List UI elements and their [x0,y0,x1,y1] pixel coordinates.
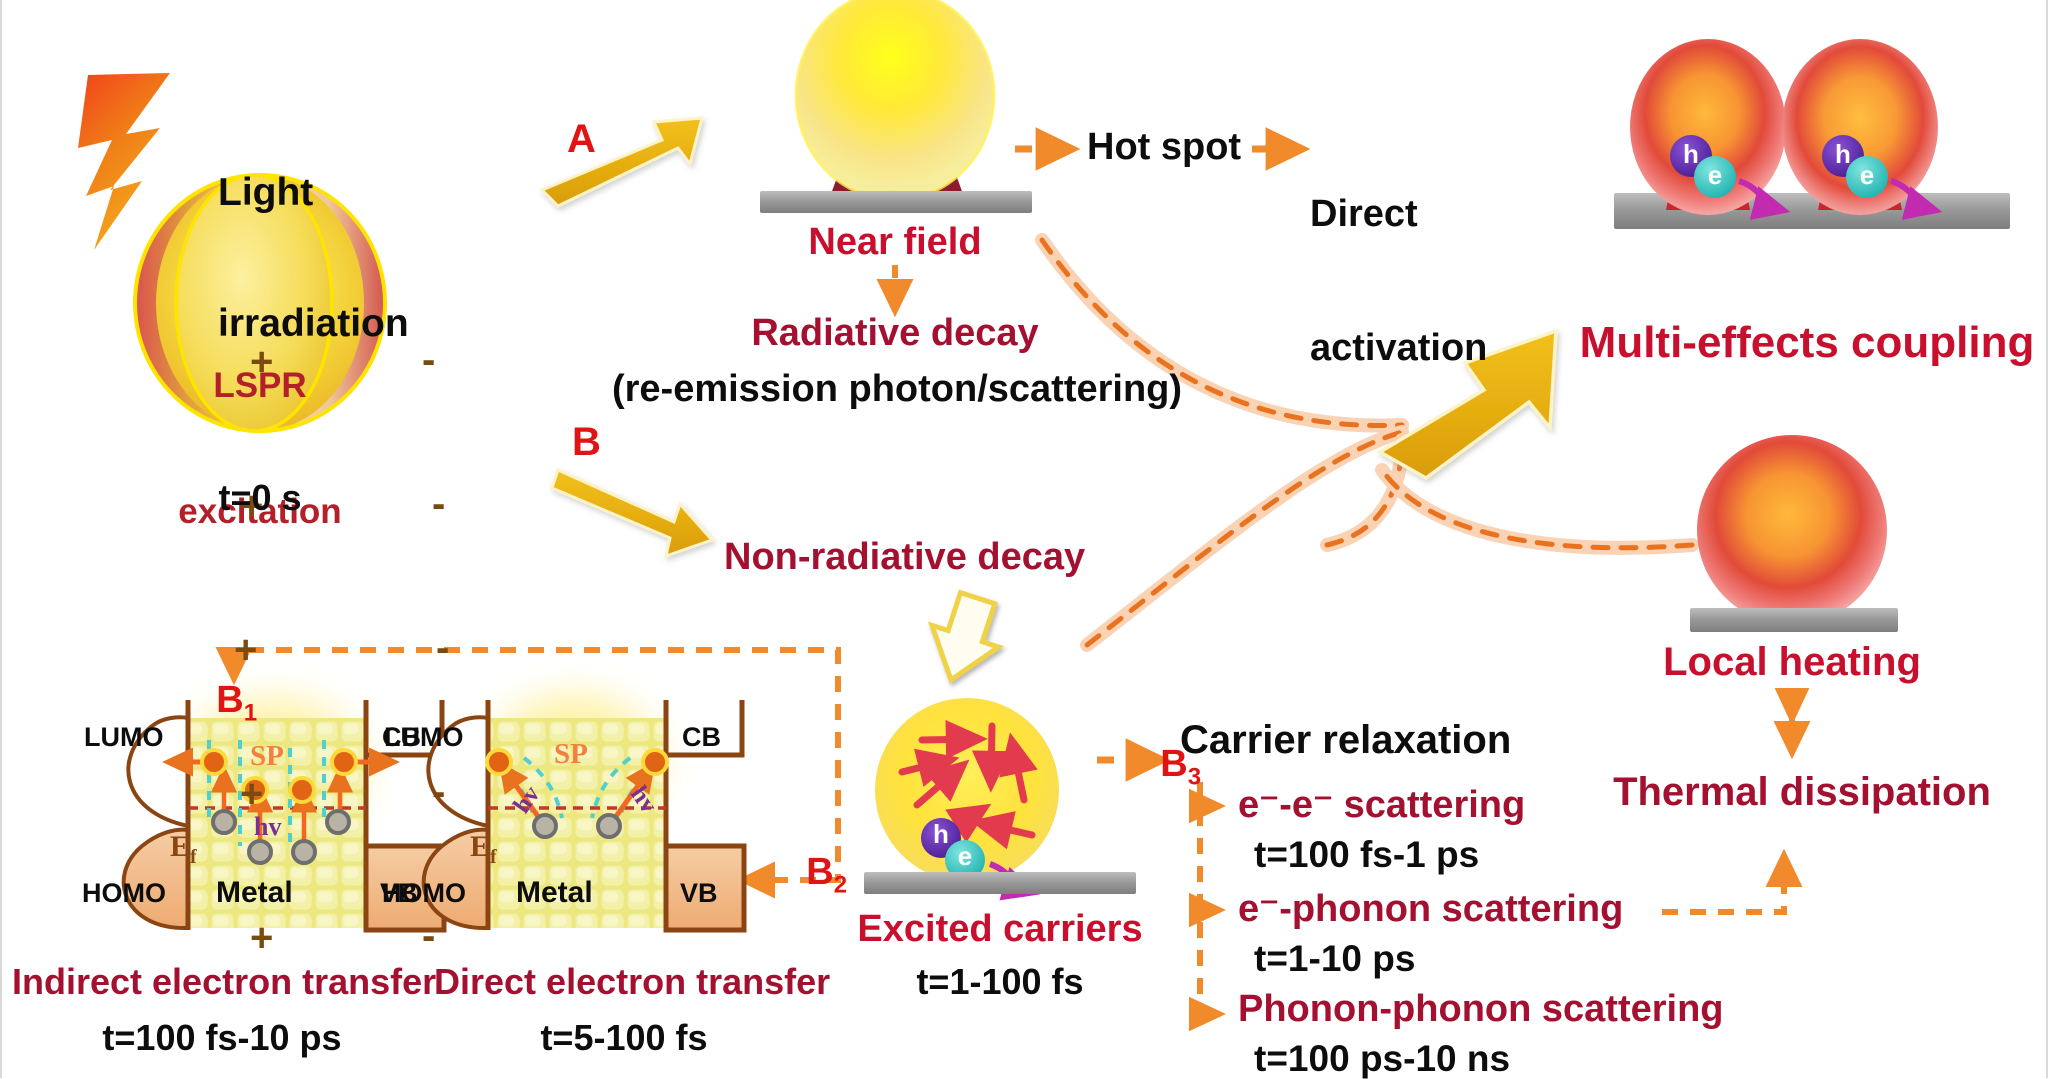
excited-carriers-time: t=1-100 fs [830,962,1170,1002]
bd2-time: t=5-100 fs [434,1018,814,1058]
lspr-time-label: t=0 s [160,478,360,518]
figure-canvas: Light irradiation LSPR excitation + + + … [2,0,2046,1078]
bd1-fermi-subscript: f [190,846,197,868]
bd2-fermi-label: Ef [440,796,497,902]
bd2-lumo-label: LUMO [384,722,463,752]
relaxation-item-0-name: e⁻-e⁻ scattering [1238,784,1525,827]
near-field-label: Near field [745,221,1045,264]
substrate-bar [864,872,1136,894]
bd1-fermi-label: Ef [140,796,197,902]
relaxation-item-1-name: e⁻-phonon scattering [1238,888,1623,931]
relaxation-item-2-name: Phonon-phonon scattering [1238,988,1724,1031]
branch-b1-label: B1 [174,636,257,770]
bd1-lumo-label: LUMO [84,722,163,752]
bd2-metal-label: Metal [516,876,593,910]
non-radiative-hollow-arrow [918,587,1011,690]
non-radiative-decay-label: Non-radiative decay [724,536,1085,579]
bd2-fermi-letter: E [470,830,490,863]
excited-carriers-nanoparticle-icon [864,698,1136,894]
multi-electron-label-1: e [1701,161,1729,190]
branch-b-arrow [552,470,712,556]
branch-a-label: A [567,117,596,162]
branch-b3-subscript: 3 [1188,763,1201,790]
minus-sign: - [422,912,466,960]
branch-b-label: B [572,420,601,465]
thermal-feedback-arrow [1662,856,1784,912]
branch-b2-letter: B [806,851,833,893]
relaxation-item-1-time: t=1-10 ps [1254,938,1415,979]
local-heating-nanoparticle-icon [1690,435,1898,632]
bd1-sp-label: SP [250,740,284,772]
lightning-bolt-icon [78,73,170,250]
excited-electron-label: e [950,842,980,871]
bd2-cb-label: CB [682,722,721,752]
minus-sign: - [436,624,466,672]
minus-sign: - [432,480,466,528]
plus-sign: + [250,338,282,386]
direct-activation-label: Direct activation [1310,102,1487,461]
bd1-hv-label: hv [254,812,281,841]
multi-effects-caption: Multi-effects coupling [1572,318,2042,367]
radiative-decay-sub: (re-emission photon/scattering) [547,368,1247,411]
branch-a-arrow [542,118,702,206]
bd2-caption: Direct electron transfer [434,962,814,1002]
excited-carriers-caption: Excited carriers [830,908,1170,951]
thermal-dissipation-caption: Thermal dissipation [1592,770,2012,815]
carrier-relaxation-title: Carrier relaxation [1180,718,1511,763]
light-label-line1: Light [218,171,409,215]
bd1-time: t=100 fs-10 ps [12,1018,432,1058]
near-field-nanoparticle-icon [760,0,1032,213]
bd1-caption: Indirect electron transfer [12,962,432,1002]
carrier-relaxation-tree [1200,782,1220,1022]
direct-activation-line2: activation [1310,326,1487,371]
bd2-fermi-subscript: f [490,846,497,868]
relaxation-item-2-time: t=100 ps-10 ns [1254,1038,1510,1079]
radiative-decay-label: Radiative decay [695,312,1095,355]
multi-effects-nanoparticles-icon [1614,39,2010,229]
local-heating-caption: Local heating [1622,640,1962,685]
bd1-fermi-letter: E [170,830,190,863]
branch-b1-subscript: 1 [244,699,257,726]
plus-sign: + [250,914,282,962]
hot-spot-label: Hot spot [1087,126,1241,169]
branch-b2-subscript: 2 [834,871,847,898]
substrate-bar [1690,608,1898,632]
minus-sign: - [422,336,466,384]
direct-activation-line1: Direct [1310,192,1487,237]
bd2-sp-label: SP [554,738,588,770]
branch-b1-letter: B [216,679,243,721]
multi-electron-label-2: e [1853,161,1881,190]
substrate-bar [760,191,1032,213]
plus-sign: + [240,770,282,818]
bd2-vb-label: VB [680,878,718,908]
bd1-metal-label: Metal [216,876,293,910]
lspr-minus-signs: - - - - - [422,240,466,1056]
relaxation-item-0-time: t=100 fs-1 ps [1254,834,1479,875]
